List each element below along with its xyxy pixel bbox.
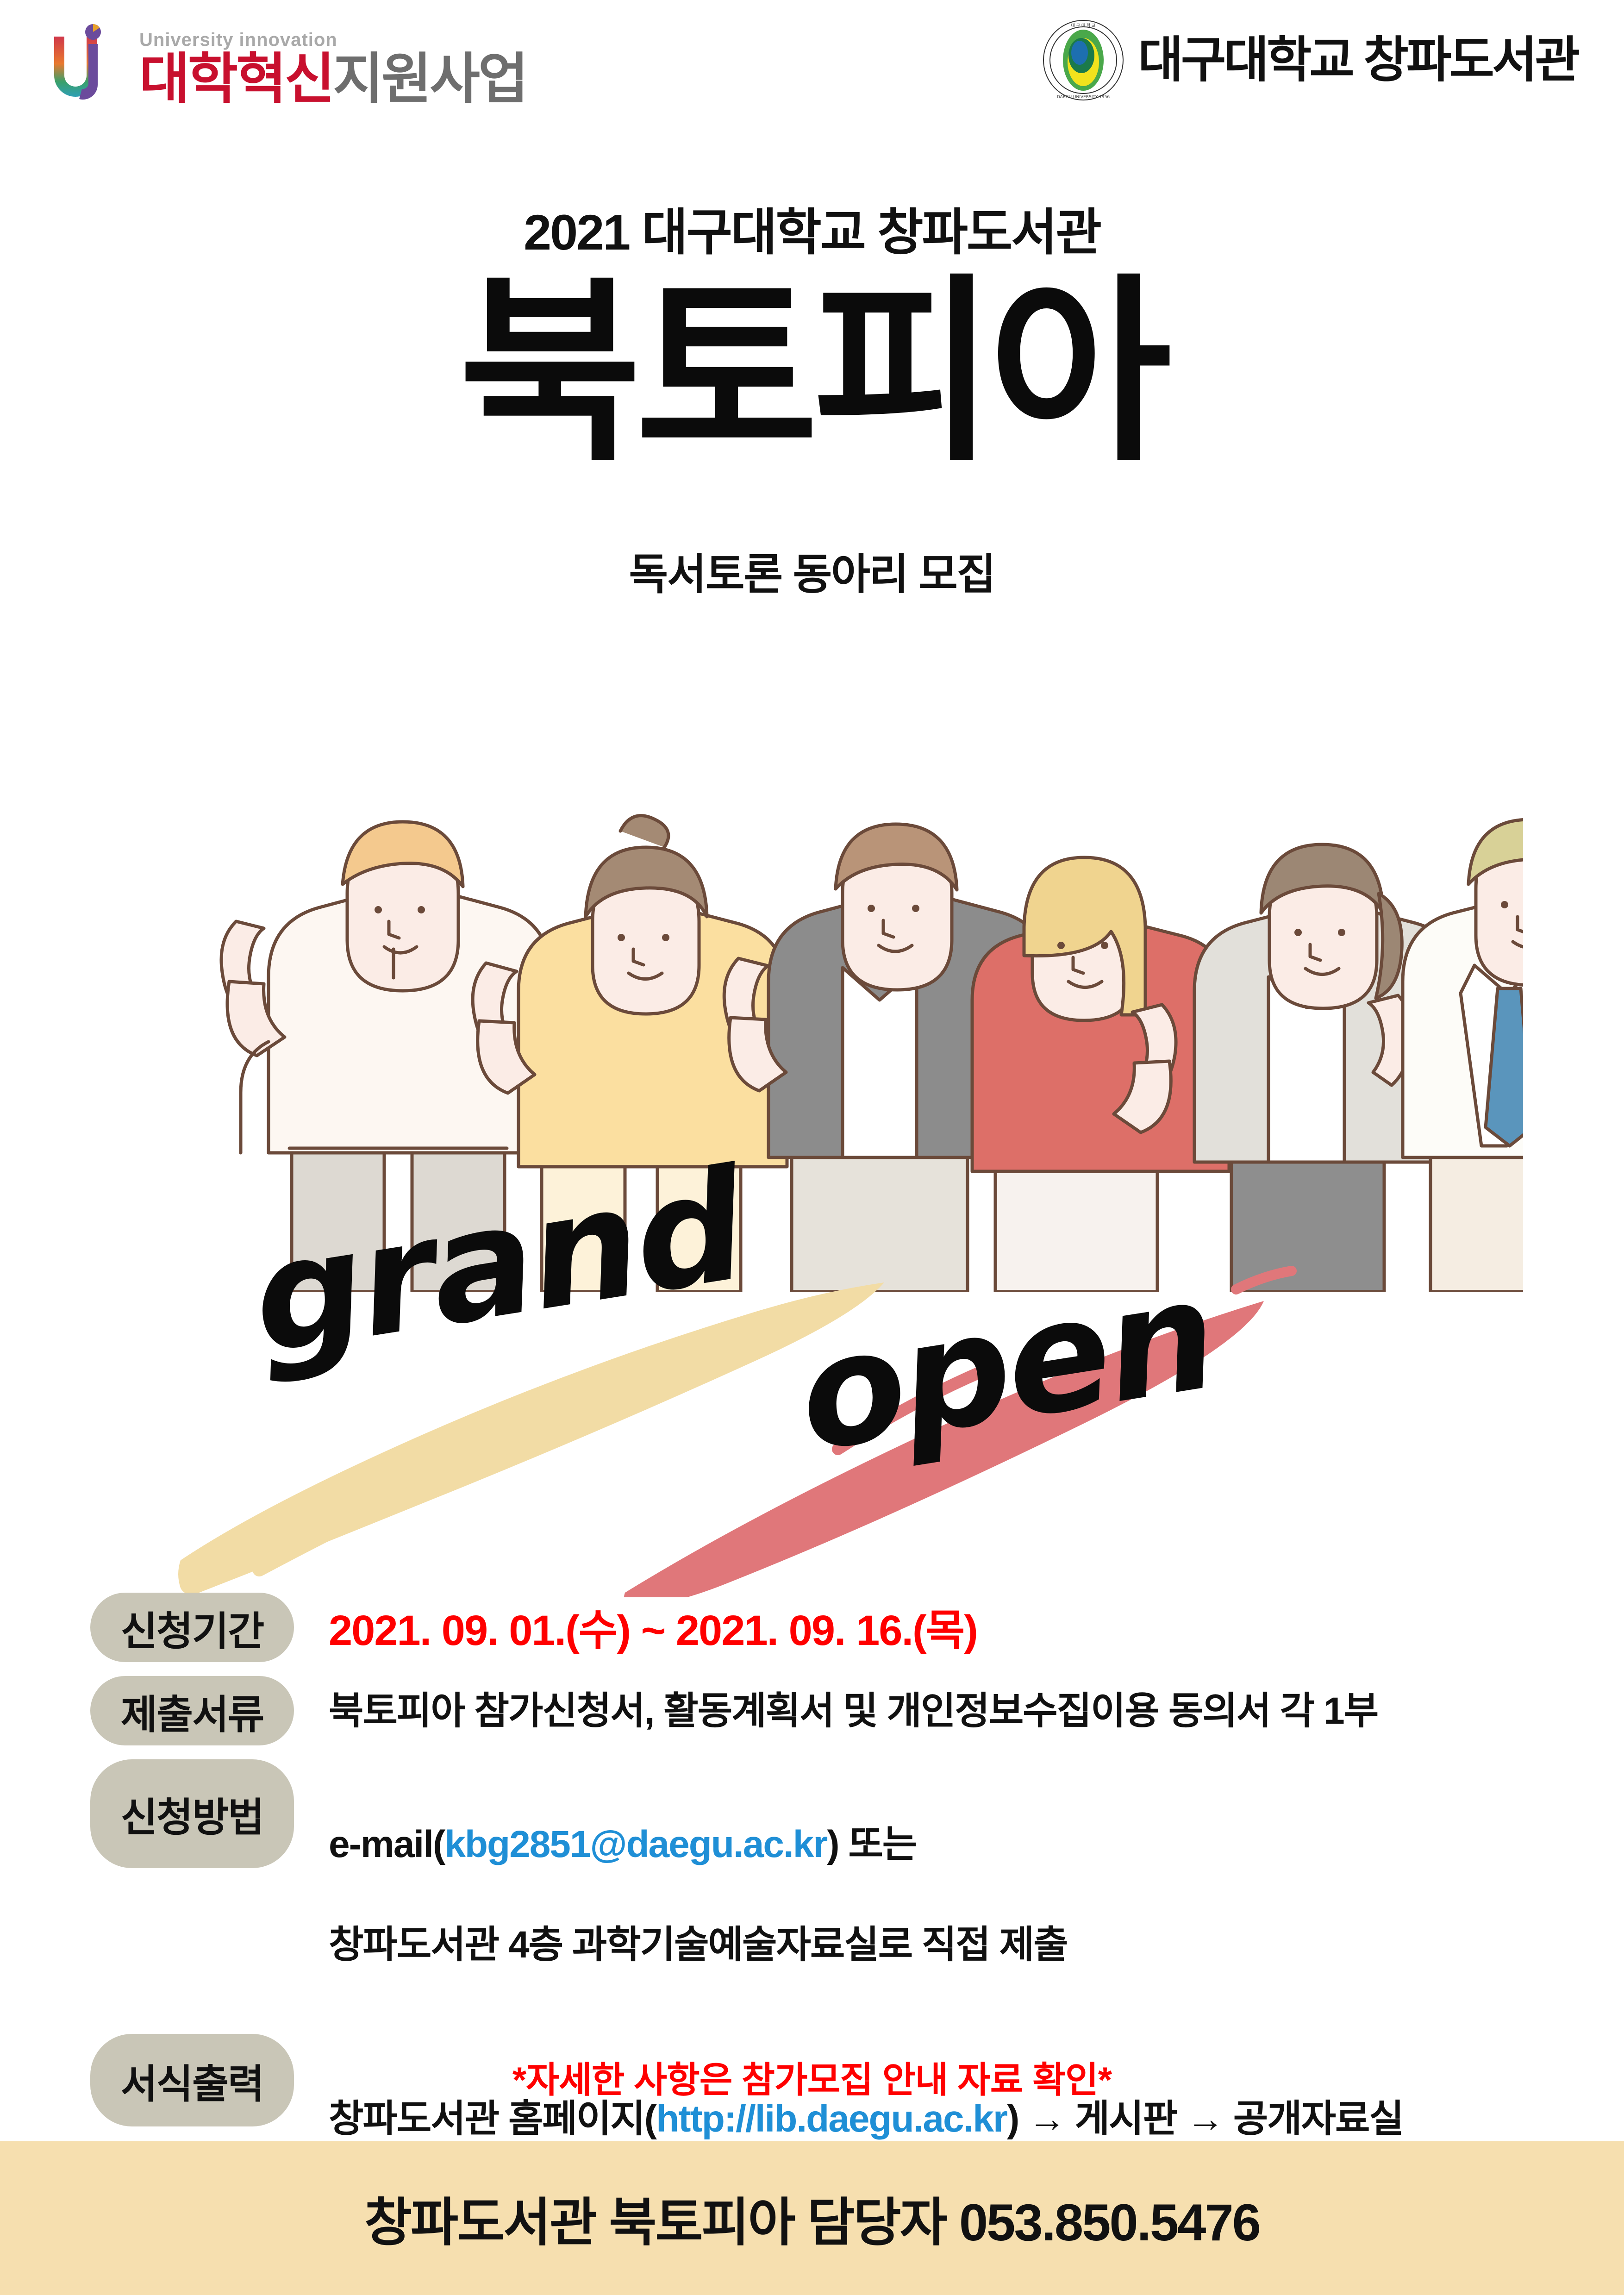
uj-logo-mark-icon [44, 20, 127, 113]
detail-note: *자세한 사항은 참가모집 안내 자료 확인* [0, 2051, 1624, 2103]
homepage-prefix: 창파도서관 홈페이지( [329, 2098, 656, 2140]
value-how-to-apply: e-mail(kbg2851@daegu.ac.kr) 또는 창파도서관 4층 … [329, 1759, 1068, 2020]
library-name: 대구대학교 창파도서관 [1138, 36, 1578, 85]
ui-main-gray: 지원사업 [333, 49, 526, 110]
info-row-documents: 제출서류 북토피아 참가신청서, 활동계획서 및 개인정보수집이용 동의서 각 … [0, 1676, 1624, 1745]
homepage-link[interactable]: http://lib.daegu.ac.kr [656, 2098, 1007, 2140]
info-section: 신청기간 2021. 09. 01.(수) ~ 2021. 09. 16.(목)… [0, 1593, 1624, 2208]
ui-main-red: 대학혁신 [139, 49, 333, 110]
poster-kicker: 2021 대구대학교 창파도서관 [0, 207, 1624, 257]
ui-main-text: 대학혁신지원사업 [139, 52, 527, 106]
how-to-apply-line2: 창파도서관 4층 과학기술예술자료실로 직접 제출 [329, 1920, 1068, 1970]
label-documents: 제출서류 [90, 1676, 294, 1745]
svg-text:대 구 대 학 교: 대 구 대 학 교 [1071, 23, 1096, 28]
ui-tagline: University innovation [139, 31, 527, 49]
svg-text:DAEGU UNIVERSITY 1956: DAEGU UNIVERSITY 1956 [1057, 95, 1110, 100]
value-documents: 북토피아 참가신청서, 활동계획서 및 개인정보수집이용 동의서 각 1부 [329, 1676, 1378, 1736]
info-row-how-to-apply: 신청방법 e-mail(kbg2851@daegu.ac.kr) 또는 창파도서… [0, 1759, 1624, 2020]
people-thumbs-up-illustration [153, 597, 1523, 1292]
how-to-apply-line1: e-mail(kbg2851@daegu.ac.kr) 또는 [329, 1820, 1068, 1870]
label-application-period: 신청기간 [90, 1593, 294, 1662]
value-application-period: 2021. 09. 01.(수) ~ 2021. 09. 16.(목) [329, 1593, 977, 1659]
email-prefix: e-mail( [329, 1823, 444, 1865]
email-suffix: ) 또는 [827, 1823, 916, 1865]
email-link[interactable]: kbg2851@daegu.ac.kr [444, 1823, 827, 1865]
homepage-suffix: ) → 게시판 → 공개자료실 [1007, 2098, 1403, 2140]
daegu-university-seal-icon: 대 구 대 학 교 DAEGU UNIVERSITY 1956 [1043, 19, 1124, 101]
footer-bar: 창파도서관 북토피아 담당자 053.850.5476 [0, 2141, 1624, 2295]
ui-logo-text: University innovation 대학혁신지원사업 [139, 20, 527, 113]
page-title: 북토피아 [0, 273, 1624, 472]
university-innovation-logo: University innovation 대학혁신지원사업 [44, 13, 535, 119]
label-how-to-apply: 신청방법 [90, 1759, 294, 1868]
poster-subtitle: 독서토론 동아리 모집 [0, 553, 1624, 596]
footer-contact: 창파도서관 북토피아 담당자 053.850.5476 [364, 2181, 1260, 2256]
info-row-application-period: 신청기간 2021. 09. 01.(수) ~ 2021. 09. 16.(목) [0, 1593, 1624, 1662]
poster-header: University innovation 대학혁신지원사업 대 구 대 학 교… [0, 0, 1624, 139]
library-logo: 대 구 대 학 교 DAEGU UNIVERSITY 1956 대구대학교 창파… [1043, 16, 1578, 104]
